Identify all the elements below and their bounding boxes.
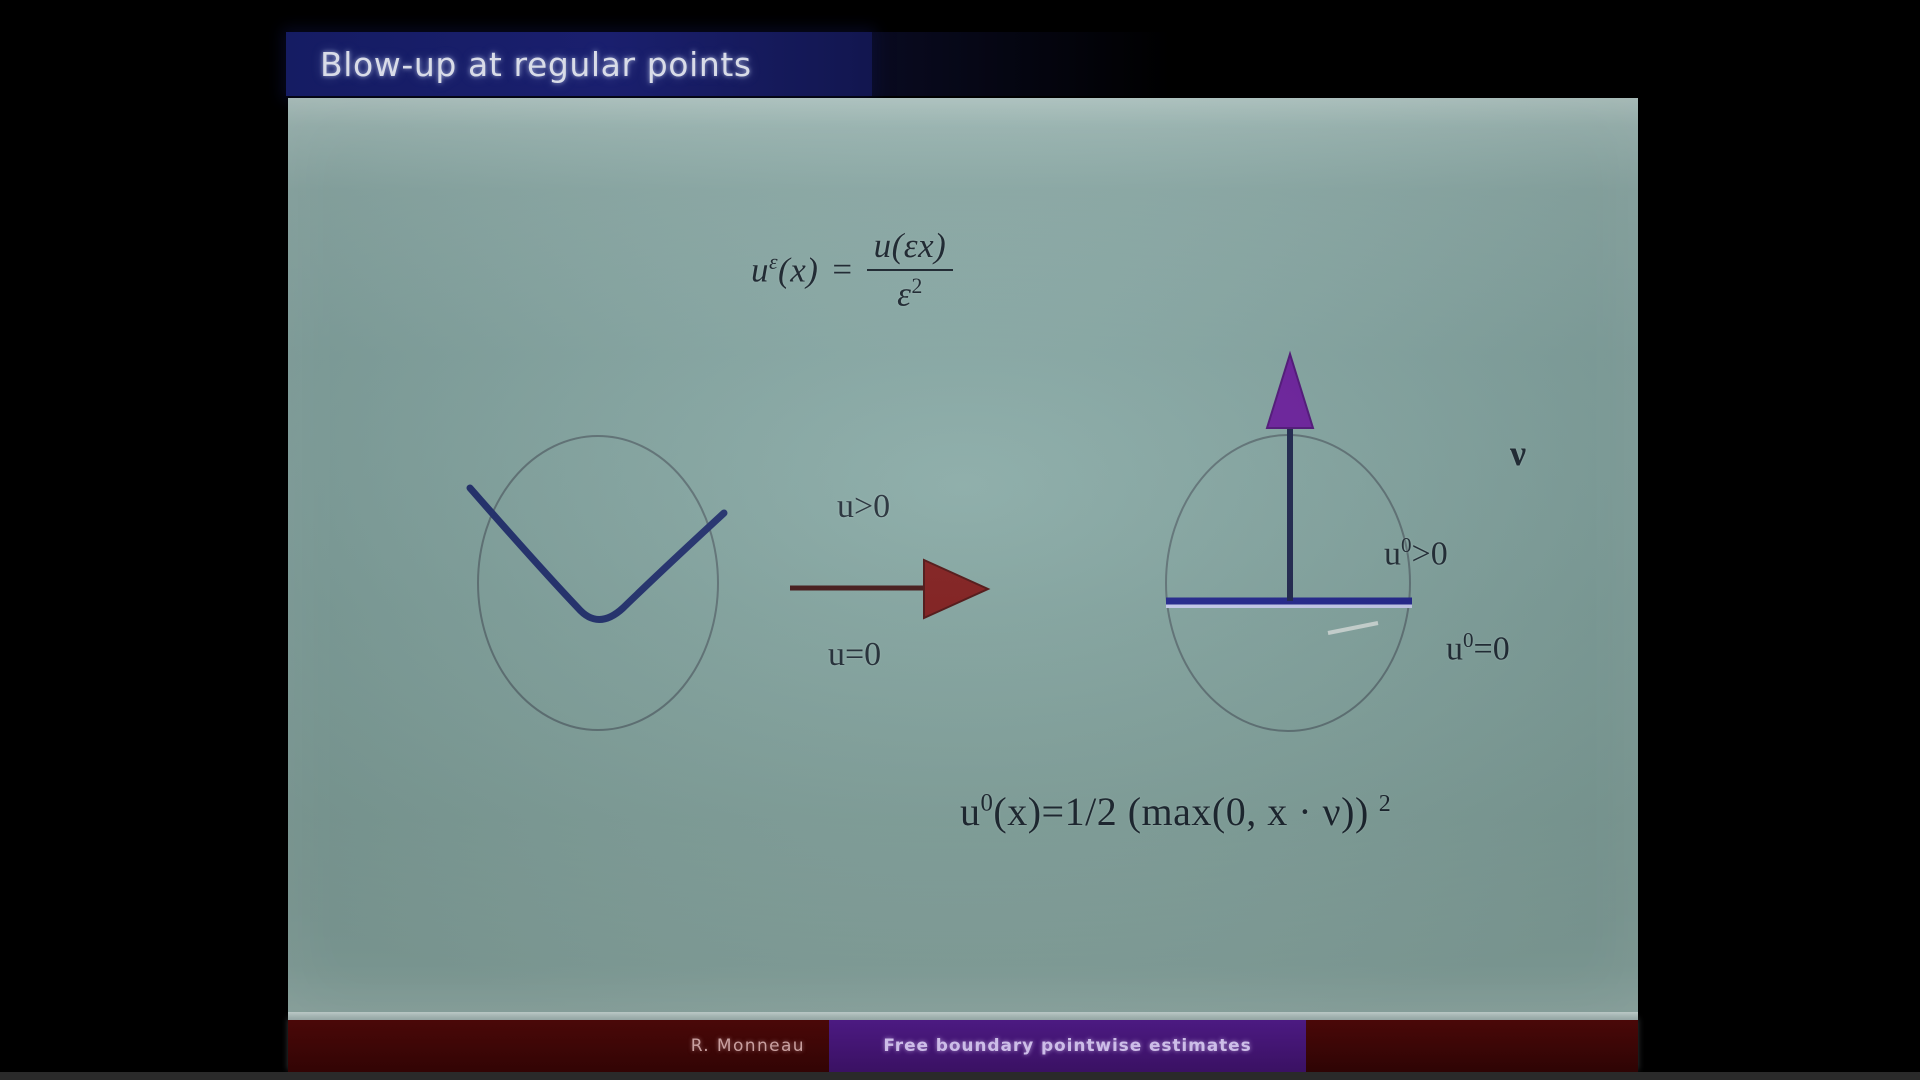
footer-tail xyxy=(1306,1020,1638,1072)
title-banner-glow xyxy=(872,32,1172,96)
blowup-scaling-formula: uε(x) = u(εx) ε2 xyxy=(751,226,953,315)
label-normal-vector: ν xyxy=(1510,432,1526,474)
footer-talk-title: Free boundary pointwise estimates xyxy=(829,1020,1306,1072)
formula-top-equals: = xyxy=(832,250,852,290)
label-u-zero: u=0 xyxy=(828,636,881,674)
formula-top-numerator: u(εx) xyxy=(867,226,954,269)
left-free-boundary-curve xyxy=(470,488,724,620)
projected-slide-screenshot: Blow-up at regular points uε(x) = u(εx) … xyxy=(0,0,1920,1080)
formula-bottom-exponent: 2 xyxy=(1379,791,1392,817)
formula-bottom-body: (x)=1/2 (max(0, x · ν)) xyxy=(993,789,1368,834)
formula-bottom-lhs-base: u xyxy=(960,789,981,834)
right-circle-outline xyxy=(1166,435,1410,731)
title-banner: Blow-up at regular points xyxy=(286,32,872,96)
blowup-limit-formula: u0(x)=1/2 (max(0, x · ν))2 xyxy=(960,788,1391,835)
screen-glare-streak xyxy=(1328,623,1378,633)
label-u-positive: u>0 xyxy=(837,488,890,526)
bottom-letterbox-band xyxy=(0,1072,1920,1080)
formula-top-denominator: ε2 xyxy=(890,271,930,315)
label-u0-zero: u0=0 xyxy=(1446,628,1510,668)
slide-body: uε(x) = u(εx) ε2 xyxy=(288,98,1638,1020)
arrow-head xyxy=(924,560,988,618)
label-u0-positive: u0>0 xyxy=(1384,533,1448,573)
formula-top-fraction: u(εx) ε2 xyxy=(867,226,954,315)
slide-title: Blow-up at regular points xyxy=(286,45,752,84)
formula-top-lhs: uε(x) xyxy=(751,250,818,291)
footer-author: R. Monneau xyxy=(288,1020,829,1072)
left-circle-outline xyxy=(478,436,718,730)
slide-footer: R. Monneau Free boundary pointwise estim… xyxy=(288,1020,1638,1072)
formula-bottom-lhs-sup: 0 xyxy=(981,790,994,817)
normal-vector-head xyxy=(1267,354,1313,428)
